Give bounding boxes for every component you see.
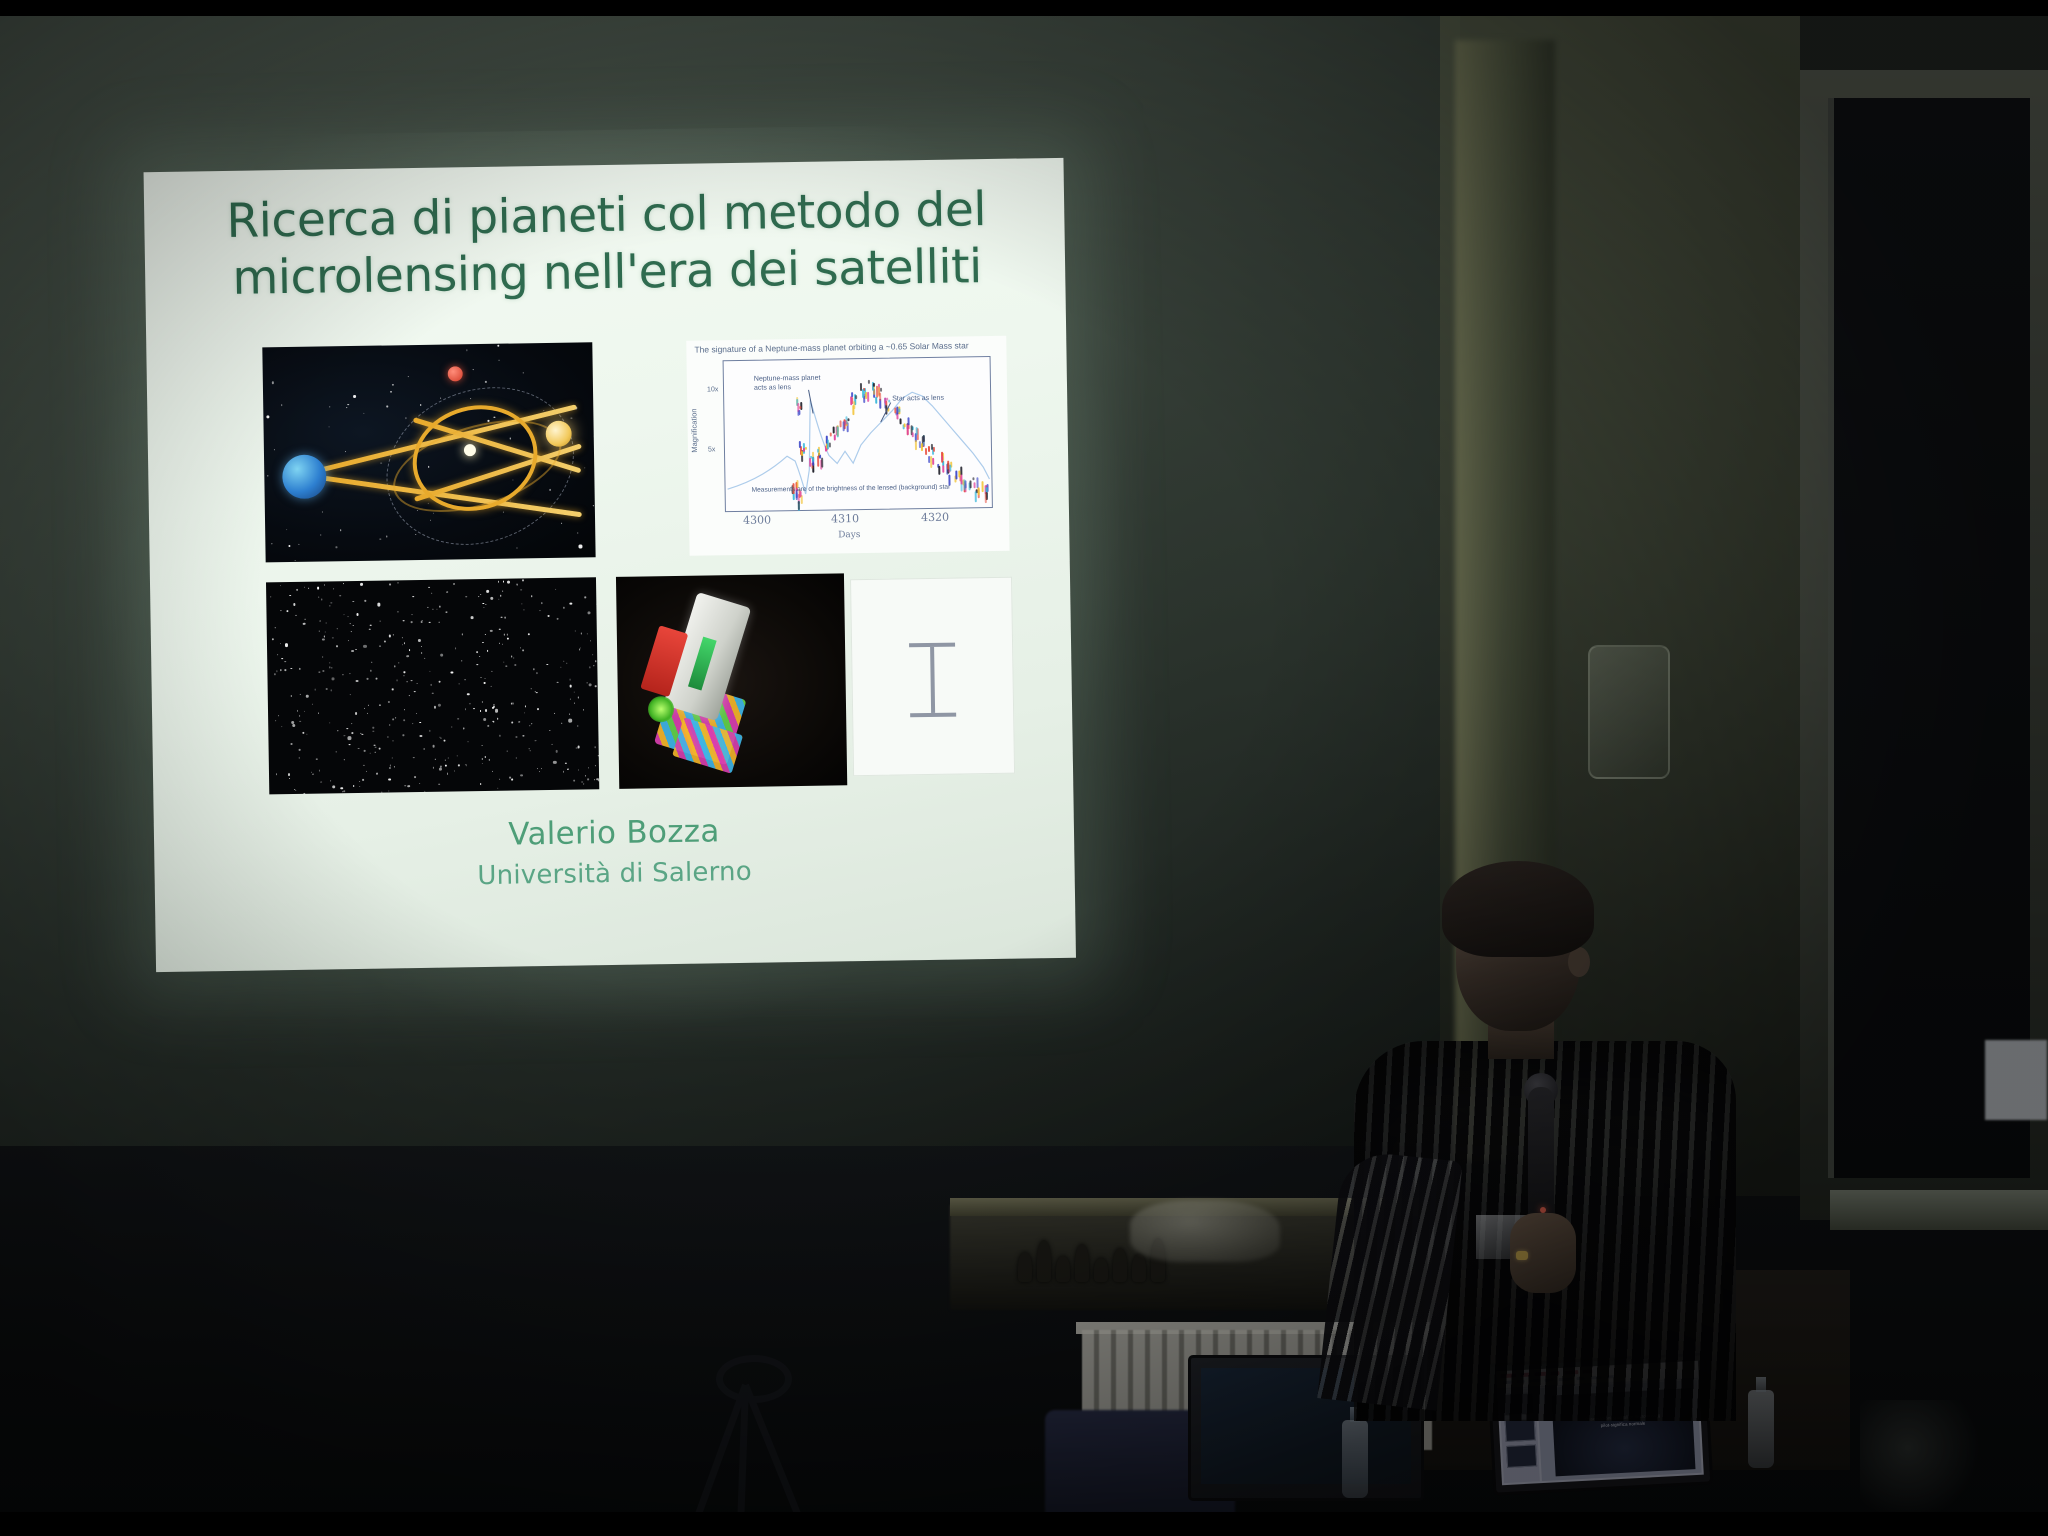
window-ledge	[1830, 1190, 2048, 1230]
cloth-bundle	[1130, 1200, 1280, 1262]
annotation-text: acts as lens	[754, 385, 791, 393]
letterbox-bottom	[0, 1512, 2048, 1536]
projection-screen: Ricerca di pianeti col metodo del microl…	[123, 153, 1096, 1008]
letterbox-top	[0, 0, 2048, 16]
star-field-photo	[266, 577, 599, 794]
chart-title: The signature of a Neptune-mass planet o…	[694, 340, 1002, 355]
slide-thumbnail[interactable]	[1505, 1418, 1536, 1442]
window-pane	[1985, 1040, 2047, 1120]
gravitational-lensing-diagram	[262, 342, 595, 562]
spectrograph-thumbnail	[850, 577, 1015, 777]
annotation-text: Neptune-mass planet	[754, 375, 821, 383]
satellite-spacecraft-photo	[616, 573, 847, 789]
slide-thumbnail[interactable]	[1506, 1444, 1537, 1468]
tripod	[700, 1355, 792, 1525]
foreground-object	[1860, 1400, 1980, 1520]
slide-title: Ricerca di pianeti col metodo del microl…	[206, 181, 1008, 308]
wall-speaker	[1588, 645, 1670, 779]
doorway-opening	[1828, 98, 2030, 1178]
slide-affiliation: Università di Salerno	[154, 852, 1074, 896]
star-field	[266, 577, 599, 794]
chart-x-tick: 4310	[831, 512, 859, 525]
photograph: Ricerca di pianeti col metodo del microl…	[0, 0, 2048, 1536]
water-bottle	[1342, 1420, 1368, 1498]
light-curve-chart: The signature of a Neptune-mass planet o…	[686, 336, 1009, 556]
spectro-glyph	[909, 643, 956, 718]
presenter-hair	[1442, 861, 1594, 957]
chart-plot-area: Neptune-mass planet acts as lens Star ac…	[723, 356, 993, 512]
chart-y-tick: 10x	[707, 386, 718, 393]
laptop-slide-line2: pilot-significa normale	[1601, 1421, 1646, 1428]
presenter	[1330, 855, 1760, 1415]
chart-annotation-planet: Neptune-mass planet acts as lens	[754, 374, 821, 394]
chart-y-axis-label: Magnification	[689, 408, 699, 452]
presentation-slide: Ricerca di pianeti col metodo del microl…	[144, 158, 1076, 972]
chart-y-tick: 5x	[708, 446, 716, 453]
slide-author: Valerio Bozza	[154, 808, 1074, 858]
chart-x-tick: 4300	[743, 513, 771, 526]
slide-title-line2: microlensing nell'era dei satelliti	[207, 238, 1008, 308]
finger-ring	[1516, 1251, 1528, 1260]
chart-x-tick: 4320	[921, 511, 949, 524]
chart-annotation-star: Star acts as lens	[892, 394, 944, 404]
chart-x-axis-label: Days	[689, 528, 1009, 543]
